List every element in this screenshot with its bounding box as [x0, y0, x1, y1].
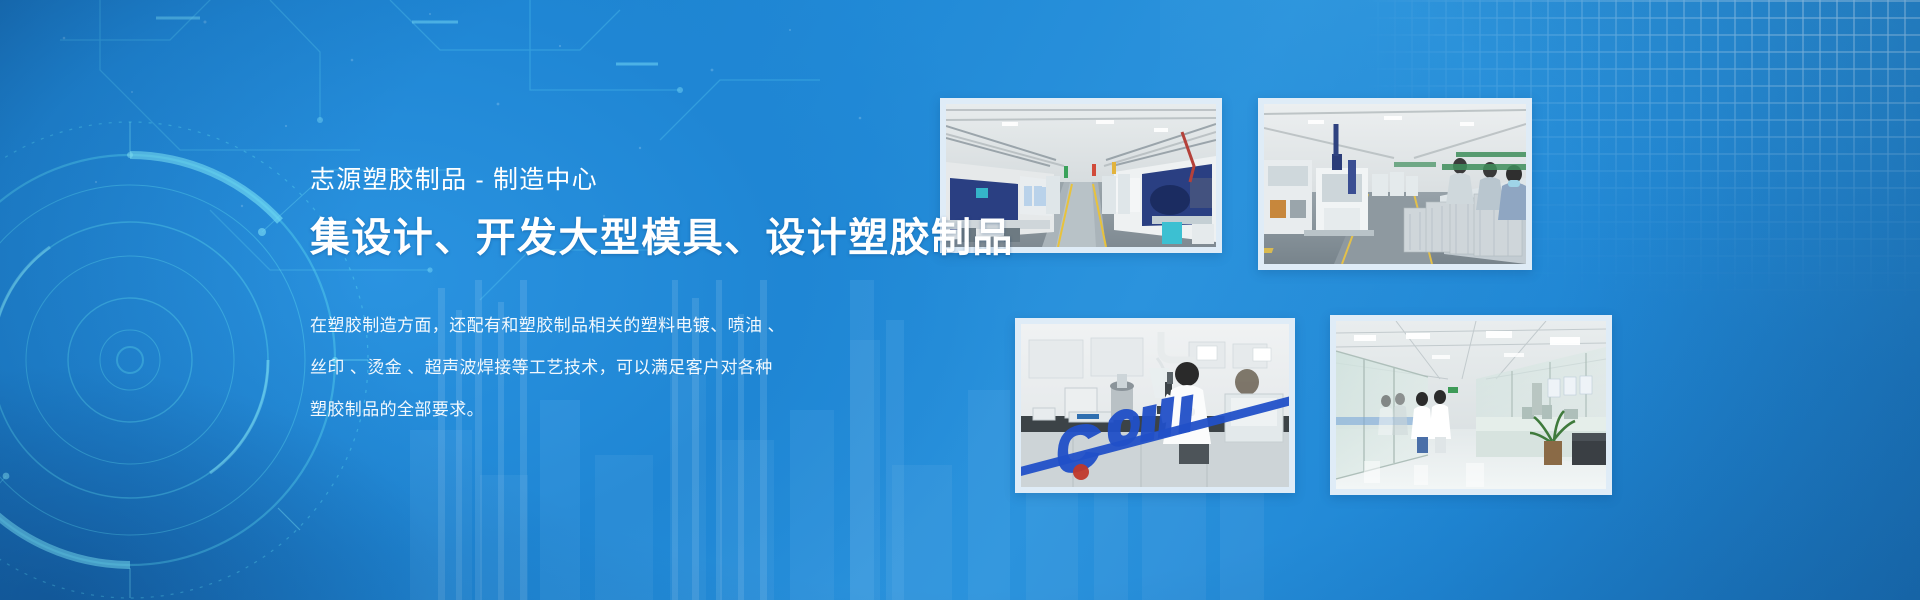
description-line-1: 在塑胶制造方面，还配有和塑胶制品相关的塑料电镀、喷油 、	[310, 305, 950, 347]
banner-description: 在塑胶制造方面，还配有和塑胶制品相关的塑料电镀、喷油 、 丝印 、烫金 、超声波…	[310, 305, 950, 431]
description-line-3: 塑胶制品的全部要求。	[310, 389, 950, 431]
banner-headline: 集设计、开发大型模具、设计塑胶制品	[310, 216, 950, 261]
hero-banner: 志源塑胶制品 - 制造中心 集设计、开发大型模具、设计塑胶制品 在塑胶制造方面，…	[0, 0, 1920, 600]
hero-copy: 志源塑胶制品 - 制造中心 集设计、开发大型模具、设计塑胶制品 在塑胶制造方面，…	[310, 168, 950, 431]
banner-eyebrow: 志源塑胶制品 - 制造中心	[310, 168, 950, 193]
photo-cleanroom-corridor[interactable]	[1330, 315, 1612, 495]
photo-gallery	[0, 0, 1920, 600]
photo-assembly-production-line[interactable]	[1258, 98, 1532, 270]
description-line-2: 丝印 、烫金 、超声波焊接等工艺技术，可以满足客户对各种	[310, 347, 950, 389]
photo-quality-testing-lab[interactable]	[1015, 318, 1295, 493]
